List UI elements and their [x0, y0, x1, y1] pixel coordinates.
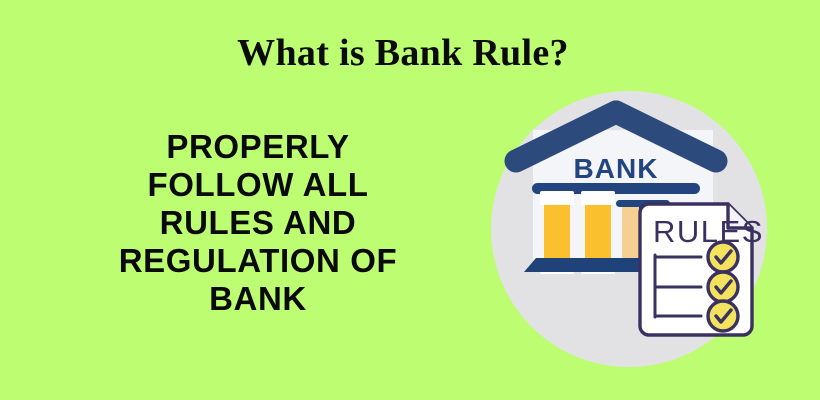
rule-check-2-icon — [708, 272, 738, 302]
rule-check-1-icon — [708, 242, 738, 272]
bank-sign-label: BANK — [574, 153, 659, 184]
rules-heading-label: RULES — [653, 214, 764, 249]
poster-canvas: What is Bank Rule? PROPERLY FOLLOW ALL R… — [0, 0, 820, 400]
headline-line-3: RULES AND — [48, 204, 468, 242]
rules-document-icon: RULES — [640, 204, 764, 335]
bank-rules-illustration: BANK — [480, 70, 790, 385]
rule-check-3-icon — [708, 301, 738, 331]
headline-line-2: FOLLOW ALL — [48, 166, 468, 204]
headline-line-1: PROPERLY — [48, 128, 468, 166]
headline-line-4: REGULATION OF — [48, 242, 468, 280]
headline-line-5: BANK — [48, 280, 468, 318]
headline-block: PROPERLY FOLLOW ALL RULES AND REGULATION… — [48, 128, 468, 318]
